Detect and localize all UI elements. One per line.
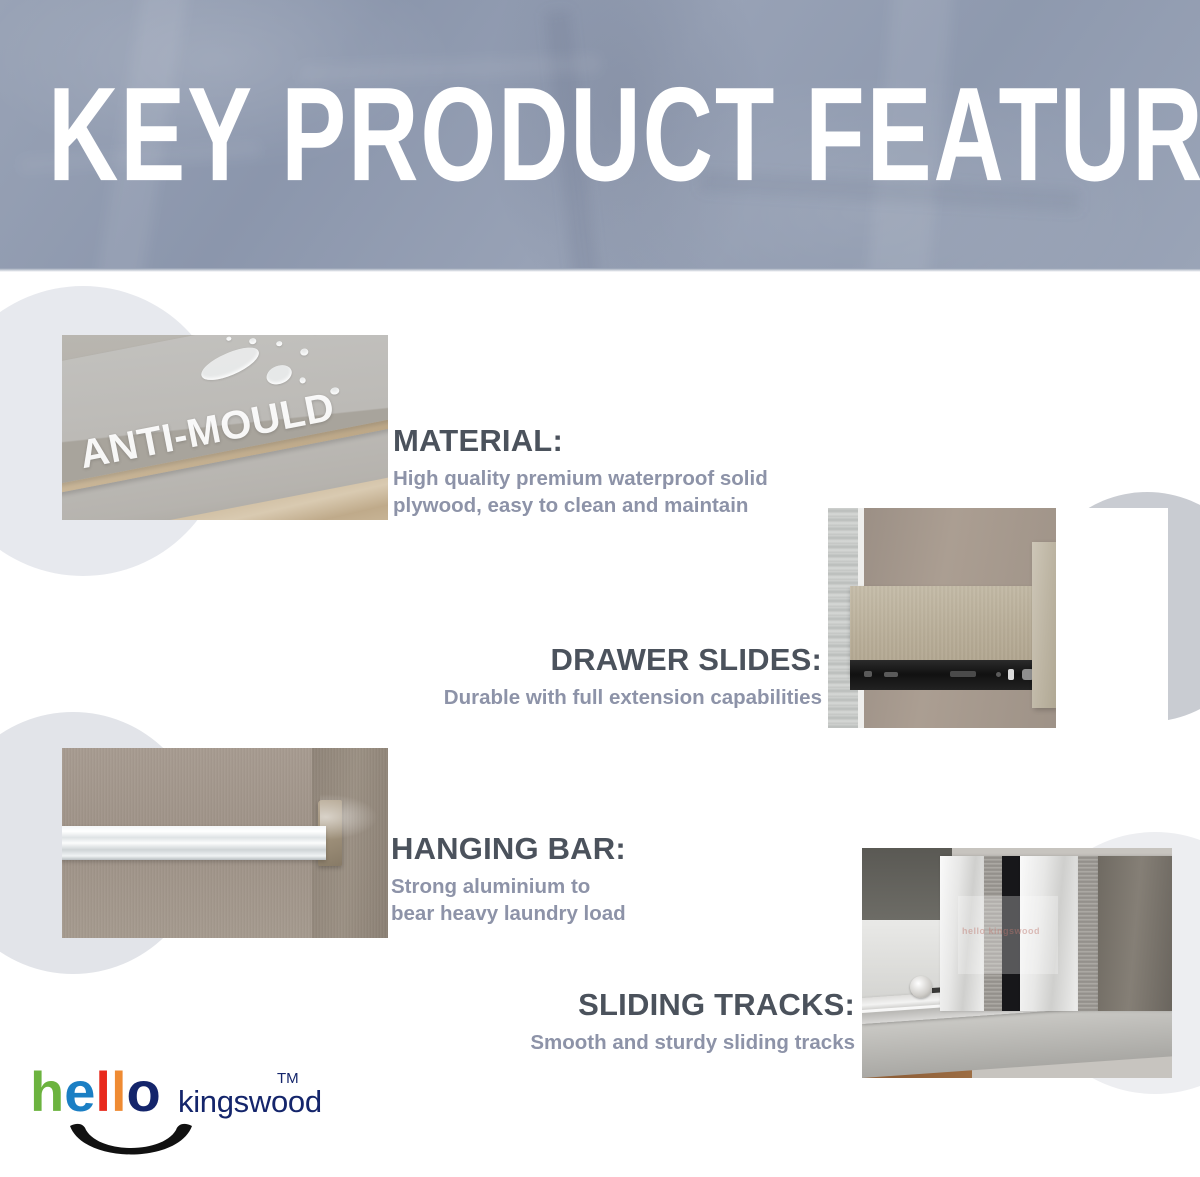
brand-logo[interactable]: h e l l o kingswood TM <box>30 1062 330 1172</box>
logo-letter-l-second: l <box>111 1065 127 1118</box>
feature-description-line: Strong aluminium to <box>391 873 626 900</box>
feature-block-material: MATERIAL: High quality premium waterproo… <box>393 424 768 519</box>
page-title: KEY PRODUCT FEATURES <box>48 68 1152 202</box>
feature-description-line: bear heavy laundry load <box>391 900 626 927</box>
rail-detail <box>1008 669 1014 680</box>
bracket-light-glow <box>320 794 378 840</box>
logo-letter-l-first: l <box>95 1065 111 1118</box>
drawer-front-panel <box>1032 542 1056 708</box>
header-bottom-edge <box>0 268 1200 272</box>
water-droplet <box>197 342 263 386</box>
track-background-dark <box>862 848 952 920</box>
feature-block-hanging-bar: HANGING BAR: Strong aluminium to bear he… <box>391 832 626 927</box>
feature-description-drawer-slides: Durable with full extension capabilities <box>330 684 822 711</box>
water-droplet <box>299 377 306 384</box>
drawer-slide-rail <box>850 660 1042 690</box>
wardrobe-interior-dark <box>1098 856 1172 1011</box>
page-header-banner: KEY PRODUCT FEATURES <box>0 0 1200 272</box>
feature-title-drawer-slides: DRAWER SLIDES: <box>330 643 822 677</box>
feature-block-drawer-slides: DRAWER SLIDES: Durable with full extensi… <box>330 643 822 711</box>
feature-description-line: Smooth and sturdy sliding tracks <box>400 1029 855 1056</box>
logo-letter-o: o <box>127 1065 161 1118</box>
hanging-bar-photo <box>62 748 388 938</box>
water-droplet <box>264 362 295 388</box>
feature-description-hanging-bar: Strong aluminium to bear heavy laundry l… <box>391 873 626 927</box>
sliding-door-edge-core <box>1078 856 1098 1011</box>
rail-detail <box>864 671 872 677</box>
feature-description-line: High quality premium waterproof solid <box>393 465 768 492</box>
logo-letter-e: e <box>64 1065 95 1118</box>
plywood-sheets-photo: ANTI-MOULD <box>62 335 388 520</box>
rail-detail <box>950 671 976 677</box>
aluminium-hanging-bar <box>62 826 326 860</box>
feature-title-material: MATERIAL: <box>393 424 768 458</box>
feature-block-sliding-tracks: SLIDING TRACKS: Smooth and sturdy slidin… <box>400 988 855 1056</box>
sliding-track-photo: hello kingswood <box>862 848 1172 1078</box>
logo-letter-h: h <box>30 1065 64 1118</box>
feature-description-line: Durable with full extension capabilities <box>330 684 822 711</box>
watermark-text: hello kingswood <box>962 926 1040 936</box>
water-droplet <box>226 336 232 341</box>
feature-title-sliding-tracks: SLIDING TRACKS: <box>400 988 855 1022</box>
logo-smile-icon <box>66 1120 196 1168</box>
logo-trademark-symbol: TM <box>277 1070 299 1087</box>
drawer-photo-white-area <box>1056 508 1168 728</box>
rail-detail <box>884 672 898 677</box>
water-droplet <box>276 341 283 347</box>
feature-description-line: plywood, easy to clean and maintain <box>393 492 768 519</box>
water-droplet <box>300 348 309 356</box>
water-droplet <box>249 338 257 345</box>
logo-wordmark-hello: h e l l o <box>30 1062 161 1118</box>
feature-description-material: High quality premium waterproof solid pl… <box>393 465 768 519</box>
logo-brand-name: kingswood <box>178 1084 322 1120</box>
sliding-door-roller-wheel <box>910 976 932 998</box>
rail-detail <box>996 672 1001 677</box>
feature-description-sliding-tracks: Smooth and sturdy sliding tracks <box>400 1029 855 1056</box>
drawer-slide-photo <box>828 508 1168 728</box>
feature-title-hanging-bar: HANGING BAR: <box>391 832 626 866</box>
track-background-light <box>862 920 952 998</box>
